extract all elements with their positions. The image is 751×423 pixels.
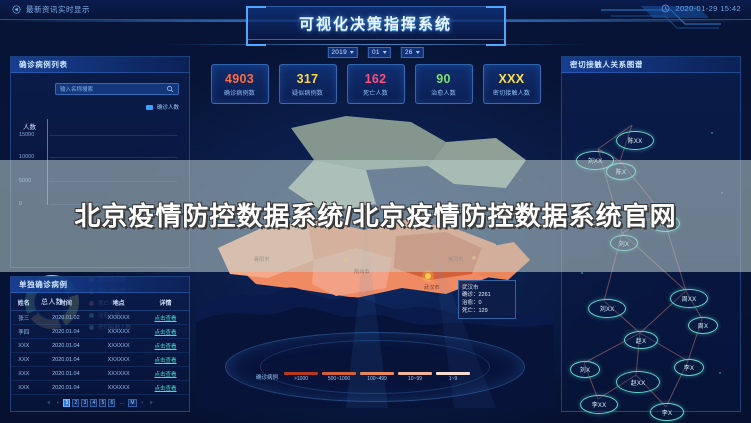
legend-range-label: 10~99 <box>408 376 422 382</box>
graph-node-label: 李X <box>684 363 694 372</box>
kpi-card[interactable]: 4903确诊病例数 <box>211 64 269 104</box>
year-select[interactable]: 2019 <box>327 47 358 58</box>
table-cell-time: 2020.01.04 <box>37 339 96 353</box>
kpi-card[interactable]: 90治愈人数 <box>415 64 473 104</box>
kpi-value: 317 <box>297 72 319 86</box>
single-case-panel-title: 单独确诊病例 <box>19 279 68 290</box>
megaphone-icon <box>12 5 21 14</box>
table-row[interactable]: XXX2020.01.04XXXXXX点击查看 <box>11 353 189 367</box>
legend-swatch <box>146 105 153 110</box>
clock-icon <box>661 4 670 13</box>
month-value: 01 <box>372 49 380 56</box>
chevron-down-icon <box>383 51 387 54</box>
legend-range-label: 100~499 <box>367 376 387 382</box>
news-ticker-label: 最新资讯实时显示 <box>26 4 90 15</box>
month-select[interactable]: 01 <box>368 47 391 58</box>
map-legend: 确诊病例 >1000500~1000100~49910~991~9 <box>256 372 470 382</box>
chart-legend: 确诊人数 <box>146 103 179 111</box>
chevron-down-icon <box>350 51 354 54</box>
search-input[interactable]: 输入名称搜索 <box>55 83 179 95</box>
table-column-header: 姓名 <box>11 295 37 311</box>
pagination-jump[interactable]: M <box>128 399 136 407</box>
graph-node-label: 李X <box>662 408 672 417</box>
map-legend-item: 10~99 <box>398 372 432 382</box>
tooltip-city-name: 武汉市 <box>462 283 512 291</box>
kpi-value: 4903 <box>225 72 254 86</box>
graph-node[interactable]: 陈XX <box>616 131 654 150</box>
graph-node[interactable]: 赵X <box>624 331 658 349</box>
graph-node-label: 赵XX <box>631 378 646 387</box>
kpi-card[interactable]: 317疑似病例数 <box>279 64 337 104</box>
y-tick-0: 15000 <box>19 132 34 138</box>
legend-range-label: 500~1000 <box>328 376 350 382</box>
kpi-card-group: 4903确诊病例数317疑似病例数162死亡人数90治愈人数XXX密切接触人数 <box>211 64 541 104</box>
table-header-row: 姓名时间地点详情 <box>11 295 189 311</box>
table-cell-detail[interactable]: 点击查看 <box>142 353 189 367</box>
map-legend-item: 1~9 <box>436 372 470 382</box>
pagination-ellipsis[interactable]: … <box>117 399 126 407</box>
table-cell-name: XXX <box>11 339 37 353</box>
pagination: «‹123456…M›» <box>11 399 189 407</box>
table-cell-detail[interactable]: 点击查看 <box>142 381 189 395</box>
clock-display: 2020-01-29 15:42 <box>661 4 741 13</box>
search-icon[interactable] <box>166 80 174 98</box>
map-legend-item: 100~499 <box>360 372 394 382</box>
table-cell-place: XXXXXX <box>95 311 142 325</box>
legend-color-bar <box>360 372 394 375</box>
pagination-page-5[interactable]: 5 <box>99 399 106 407</box>
graph-node[interactable]: 李XX <box>580 395 618 414</box>
graph-node-label: 李XX <box>592 400 607 409</box>
graph-node[interactable]: 刘XX <box>588 299 626 318</box>
legend-color-bar <box>436 372 470 375</box>
legend-range-label: 1~9 <box>449 376 457 382</box>
tooltip-stat-row: 确诊：2261 <box>462 292 512 300</box>
pagination-first[interactable]: « <box>45 399 52 407</box>
pagination-next[interactable]: › <box>139 399 146 407</box>
pagination-page-6[interactable]: 6 <box>108 399 115 407</box>
pagination-prev[interactable]: ‹ <box>54 399 61 407</box>
table-cell-time: 2020.01.04 <box>37 325 96 339</box>
legend-color-bar <box>398 372 432 375</box>
graph-node[interactable]: 周XX <box>670 289 708 308</box>
legend-color-bar <box>284 372 318 375</box>
table-cell-place: XXXXXX <box>95 325 142 339</box>
dashboard-root: 最新资讯实时显示 2020-01-29 15:42 可视化决策指挥系统 2019… <box>0 0 751 423</box>
table-cell-time: 2020.01.04 <box>37 353 96 367</box>
pagination-page-1[interactable]: 1 <box>63 399 70 407</box>
single-case-panel: 单独确诊病例 姓名时间地点详情 张三2020.01.02XXXXXX点击查看李四… <box>10 276 190 412</box>
map-legend-title: 确诊病例 <box>256 373 278 381</box>
graph-node-label: 刘XX <box>600 304 615 313</box>
date-selector-group: 2019 01 26 <box>327 47 423 58</box>
title-divider <box>166 44 586 45</box>
chevron-down-icon <box>416 51 420 54</box>
pagination-page-4[interactable]: 4 <box>90 399 97 407</box>
pagination-last[interactable]: » <box>148 399 155 407</box>
table-row[interactable]: XXX2020.01.04XXXXXX点击查看 <box>11 367 189 381</box>
pagination-page-2[interactable]: 2 <box>72 399 79 407</box>
map-base-ring-inner <box>260 340 490 394</box>
graph-node-label: 刘X <box>580 365 590 374</box>
table-cell-detail[interactable]: 点击查看 <box>142 339 189 353</box>
map-legend-item: >1000 <box>284 372 318 382</box>
cases-table: 姓名时间地点详情 张三2020.01.02XXXXXX点击查看李四2020.01… <box>11 295 189 395</box>
legend-label: 确诊人数 <box>157 103 179 111</box>
page-title-text: 可视化决策指挥系统 <box>299 13 452 34</box>
kpi-card[interactable]: XXX密切接触人数 <box>483 64 541 104</box>
map-legend-item: 500~1000 <box>322 372 356 382</box>
kpi-card[interactable]: 162死亡人数 <box>347 64 405 104</box>
graph-node[interactable]: 周X <box>688 317 718 334</box>
table-cell-place: XXXXXX <box>95 367 142 381</box>
contact-graph-panel-title: 密切接触人关系图谱 <box>570 59 643 70</box>
map-city-label: 武汉市 <box>424 284 440 291</box>
table-cell-time: 2020.01.04 <box>37 367 96 381</box>
page-title: 可视化决策指挥系统 <box>246 6 506 40</box>
table-cell-name: 张三 <box>11 311 37 325</box>
table-cell-name: 李四 <box>11 325 37 339</box>
timestamp-text: 2020-01-29 15:42 <box>675 4 741 13</box>
map-tooltip: 武汉市 确诊：2261治愈：0死亡：129 <box>458 280 516 319</box>
graph-node-label: 赵X <box>636 336 646 345</box>
kpi-label: 确诊病例数 <box>224 88 255 97</box>
table-cell-place: XXXXXX <box>95 353 142 367</box>
single-case-panel-header: 单独确诊病例 <box>11 277 189 293</box>
table-cell-place: XXXXXX <box>95 339 142 353</box>
table-cell-place: XXXXXX <box>95 381 142 395</box>
legend-range-label: >1000 <box>294 376 308 382</box>
graph-node[interactable]: 刘X <box>570 361 600 378</box>
news-ticker[interactable]: 最新资讯实时显示 <box>12 4 90 15</box>
kpi-value: 162 <box>365 72 387 86</box>
tooltip-stat-row: 死亡：129 <box>462 308 512 316</box>
graph-node-label: 周XX <box>682 294 697 303</box>
graph-node[interactable]: 李X <box>674 359 704 376</box>
table-row[interactable]: 李四2020.01.04XXXXXX点击查看 <box>11 325 189 339</box>
graph-node[interactable]: 赵XX <box>616 371 660 393</box>
confirmed-cases-panel-title: 确诊病例列表 <box>19 59 68 70</box>
legend-color-bar <box>322 372 356 375</box>
donut-center-label: 总人数 <box>41 297 63 307</box>
kpi-label: 死亡人数 <box>363 88 388 97</box>
table-cell-time: 2020.01.04 <box>37 381 96 395</box>
tooltip-stat-row: 治愈：0 <box>462 300 512 308</box>
kpi-label: 疑似病例数 <box>292 88 323 97</box>
table-row[interactable]: 张三2020.01.02XXXXXX点击查看 <box>11 311 189 325</box>
table-column-header: 详情 <box>142 295 189 311</box>
table-column-header: 地点 <box>95 295 142 311</box>
table-cell-name: XXX <box>11 353 37 367</box>
year-value: 2019 <box>331 49 347 56</box>
table-cell-detail[interactable]: 点击查看 <box>142 311 189 325</box>
kpi-value: 90 <box>436 72 451 86</box>
day-select[interactable]: 26 <box>401 47 424 58</box>
confirmed-cases-panel-header: 确诊病例列表 <box>11 57 189 73</box>
search-placeholder: 输入名称搜索 <box>60 85 166 93</box>
kpi-value: XXX <box>499 72 525 86</box>
graph-node-label: 周X <box>698 321 708 330</box>
kpi-label: 密切接触人数 <box>493 88 530 97</box>
table-cell-detail[interactable]: 点击查看 <box>142 367 189 381</box>
graph-node-label: 陈XX <box>628 136 643 145</box>
graph-node[interactable]: 李X <box>650 403 684 421</box>
kpi-label: 治愈人数 <box>431 88 456 97</box>
table-cell-name: XXX <box>11 381 37 395</box>
tooltip-stat-rows: 确诊：2261治愈：0死亡：129 <box>462 292 512 316</box>
y-axis-label: 人数 <box>23 121 36 131</box>
contact-graph-panel-header: 密切接触人关系图谱 <box>562 57 740 73</box>
map-legend-items: >1000500~1000100~49910~991~9 <box>284 372 470 382</box>
caption-text: 北京疫情防控数据系统/北京疫情防控数据系统官网 <box>51 200 701 233</box>
table-row[interactable]: XXX2020.01.04XXXXXX点击查看 <box>11 381 189 395</box>
table-row[interactable]: XXX2020.01.04XXXXXX点击查看 <box>11 339 189 353</box>
table-cell-name: XXX <box>11 367 37 381</box>
table-cell-time: 2020.01.02 <box>37 311 96 325</box>
day-value: 26 <box>405 49 413 56</box>
table-cell-detail[interactable]: 点击查看 <box>142 325 189 339</box>
pagination-page-3[interactable]: 3 <box>81 399 88 407</box>
caption-overlay: 北京疫情防控数据系统/北京疫情防控数据系统官网 <box>0 160 751 272</box>
